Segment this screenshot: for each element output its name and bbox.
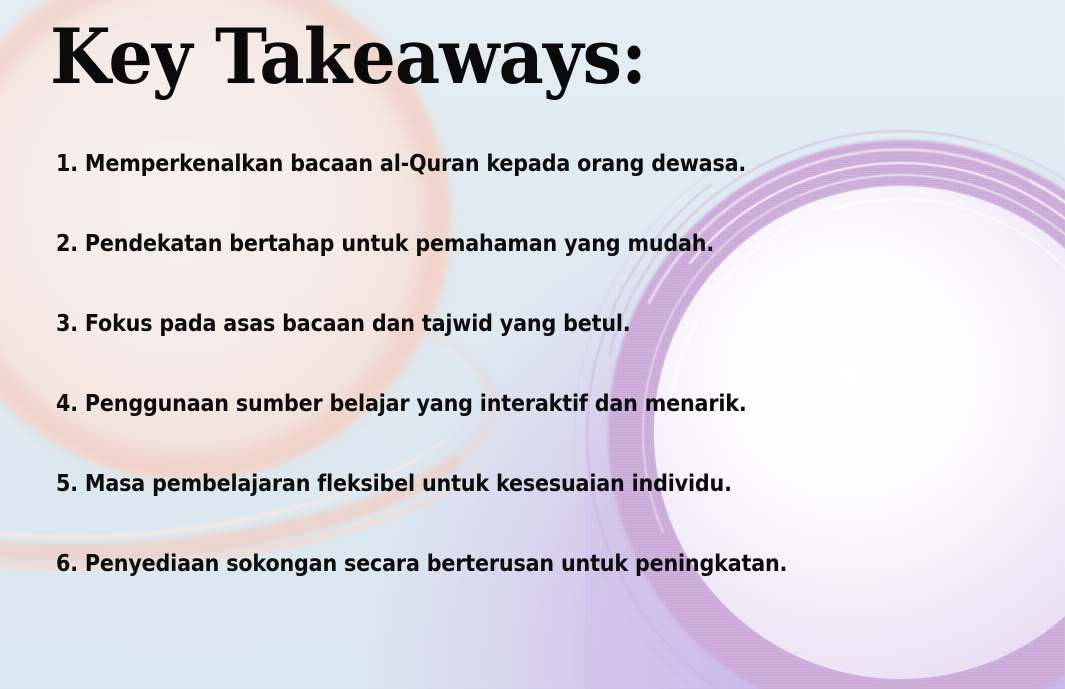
list-item: 3. Fokus pada asas bacaan dan tajwid yan… — [56, 310, 1025, 390]
list-item: 5. Masa pembelajaran fleksibel untuk kes… — [56, 470, 1025, 550]
takeaway-text: 5. Masa pembelajaran fleksibel untuk kes… — [56, 470, 732, 498]
page-title: Key Takeaways: — [50, 19, 646, 95]
takeaway-text: 1. Memperkenalkan bacaan al-Quran kepada… — [56, 150, 746, 178]
takeaways-list: 1. Memperkenalkan bacaan al-Quran kepada… — [56, 150, 1025, 630]
list-item: 4. Penggunaan sumber belajar yang intera… — [56, 390, 1025, 470]
list-item: 6. Penyediaan sokongan secara berterusan… — [56, 550, 1025, 630]
list-item: 2. Pendekatan bertahap untuk pemahaman y… — [56, 230, 1025, 310]
takeaway-text: 3. Fokus pada asas bacaan dan tajwid yan… — [56, 310, 630, 338]
takeaway-text: 2. Pendekatan bertahap untuk pemahaman y… — [56, 230, 714, 258]
takeaway-text: 4. Penggunaan sumber belajar yang intera… — [56, 390, 747, 418]
takeaway-text: 6. Penyediaan sokongan secara berterusan… — [56, 550, 787, 578]
list-item: 1. Memperkenalkan bacaan al-Quran kepada… — [56, 150, 1025, 230]
slide-content: Key Takeaways: 1. Memperkenalkan bacaan … — [0, 0, 1065, 689]
key-takeaways-slide: Key Takeaways: 1. Memperkenalkan bacaan … — [0, 0, 1065, 689]
